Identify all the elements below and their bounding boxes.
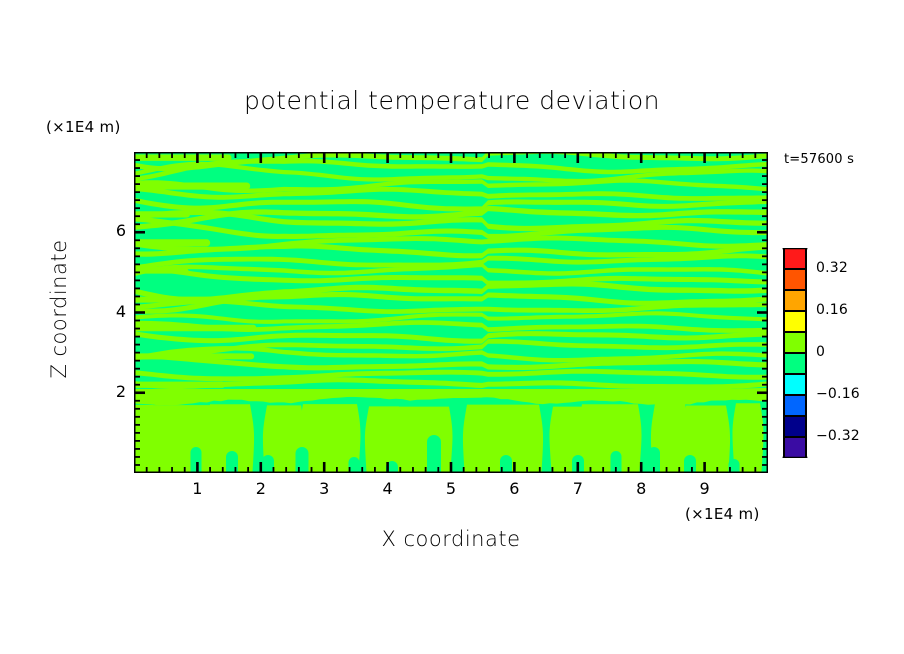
colorbar-tick-label: 0.16 bbox=[816, 302, 848, 318]
x-tick-label: 5 bbox=[431, 479, 471, 498]
colorbar-band bbox=[784, 353, 806, 374]
plume-finger bbox=[684, 455, 696, 473]
colorbar-band bbox=[784, 437, 806, 458]
x-tick-label: 1 bbox=[177, 479, 217, 498]
colorbar-band bbox=[784, 311, 806, 332]
y-tick-label: 4 bbox=[96, 302, 126, 321]
y-tick-label: 2 bbox=[96, 382, 126, 401]
plume-finger bbox=[191, 447, 202, 473]
colorbar-band bbox=[784, 290, 806, 311]
x-tick-label: 6 bbox=[494, 479, 534, 498]
convective-plume bbox=[388, 407, 453, 473]
wave-lobe bbox=[134, 353, 254, 359]
y-axis-label: Z coordinate bbox=[47, 219, 71, 399]
colorbar-tick-label: −0.16 bbox=[816, 386, 860, 402]
y-tick-label: 6 bbox=[96, 221, 126, 240]
colorbar-band bbox=[784, 269, 806, 290]
x-tick-label: 2 bbox=[241, 479, 281, 498]
convective-plume bbox=[579, 404, 642, 473]
plume-finger bbox=[296, 447, 309, 473]
colorbar bbox=[781, 248, 809, 458]
wave-lobe bbox=[134, 325, 256, 332]
colorbar-band bbox=[784, 332, 806, 353]
x-tick-label: 8 bbox=[621, 479, 661, 498]
time-annotation: t=57600 s bbox=[784, 152, 854, 167]
x-axis-label: X coordinate bbox=[134, 527, 768, 551]
contour-plot-area bbox=[134, 152, 768, 473]
colorbar-band bbox=[784, 395, 806, 416]
colorbar-tick-label: 0.32 bbox=[816, 260, 848, 276]
convective-plume bbox=[146, 405, 214, 473]
x-tick-label: 7 bbox=[558, 479, 598, 498]
wave-lobe bbox=[134, 183, 250, 190]
wave-lobe bbox=[134, 239, 210, 246]
colorbar-tick-label: −0.32 bbox=[816, 428, 860, 444]
wave-lobe bbox=[134, 155, 232, 161]
colorbar-band bbox=[784, 416, 806, 437]
convective-plume bbox=[489, 405, 543, 473]
x-axis-unit-label: (×1E4 m) bbox=[685, 505, 760, 523]
plume-finger bbox=[262, 455, 274, 473]
colorbar-band bbox=[784, 248, 806, 269]
x-tick-label: 3 bbox=[304, 479, 344, 498]
y-axis-unit-label: (×1E4 m) bbox=[46, 118, 121, 136]
wave-lobe bbox=[134, 382, 225, 388]
wave-lobe bbox=[134, 269, 189, 274]
x-tick-label: 4 bbox=[368, 479, 408, 498]
colorbar-band bbox=[784, 374, 806, 395]
x-tick-label: 9 bbox=[685, 479, 725, 498]
colorbar-tick-label: 0 bbox=[816, 344, 825, 360]
wave-lobe bbox=[134, 211, 190, 217]
wave-lobe bbox=[134, 297, 228, 303]
chart-title: potential temperature deviation bbox=[0, 86, 904, 115]
